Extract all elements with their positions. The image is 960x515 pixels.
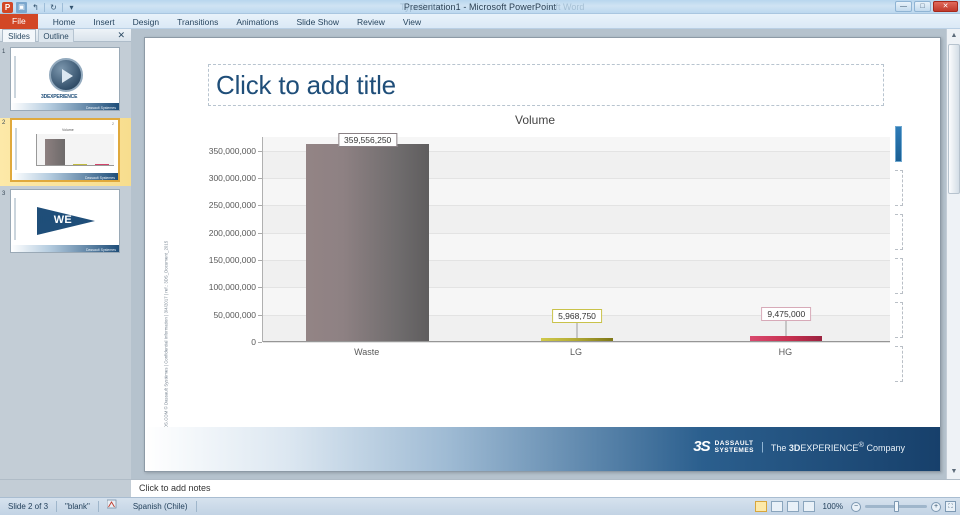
window-title-ghost-right: soft Word	[546, 0, 584, 14]
if-text: IF	[40, 214, 50, 226]
zoom-slider[interactable]	[865, 505, 927, 508]
zoom-slider-handle[interactable]	[894, 501, 899, 512]
notes-pane[interactable]: Click to add notes	[131, 479, 960, 497]
chart-bar-hg[interactable]	[750, 336, 822, 341]
slide-thumbnail-3[interactable]: 3 IF WE Dassault Systemes	[0, 189, 131, 257]
chart-y-axis: 050,000,000100,000,000150,000,000200,000…	[180, 137, 262, 342]
tab-slide-show[interactable]: Slide Show	[287, 15, 348, 29]
if-we-text: IF WE	[40, 214, 72, 226]
scroll-down-arrow-icon[interactable]: ▼	[947, 465, 960, 479]
thumbnail-slide-number: 2	[112, 122, 114, 126]
thumbnail-chart-title: Volume	[62, 128, 74, 132]
status-bar: Slide 2 of 3 "blank" Spanish (Chile) 100…	[0, 497, 960, 515]
scroll-up-arrow-icon[interactable]: ▲	[947, 29, 960, 43]
notes-pane-gutter	[0, 479, 131, 497]
we-text: WE	[54, 214, 72, 226]
thumbnail-sidebar-strip	[14, 56, 16, 98]
chart-label-leader-line	[577, 323, 578, 338]
chart-y-tick-label: 150,000,000	[209, 255, 256, 265]
status-bar-right: 100% − + ⛶	[755, 498, 956, 515]
chart-x-tick-label: Waste	[354, 347, 379, 357]
ds-company-line2: SYSTEMES	[715, 447, 754, 454]
chart-data-label-hg: 9,475,000	[761, 307, 811, 321]
thumbnail-footer-band: Dassault Systemes	[11, 103, 119, 110]
title-bar: P ▣ ↰ ↻ ▾ Presentation1 - Microsoft Powe…	[0, 0, 960, 14]
slide-workspace: Click to add title 3DS.COM © Dassault Sy…	[131, 29, 960, 479]
slide-thumbnail-image-1[interactable]: 3DEXPERIENCE Dassault Systemes	[10, 47, 120, 111]
chart-y-tick-label: 200,000,000	[209, 228, 256, 238]
ds-tagline: The 3DEXPERIENCE® Company	[771, 440, 905, 453]
thumbnail-bar-hg	[95, 164, 109, 166]
chart-title: Volume	[180, 113, 890, 127]
zoom-out-button[interactable]: −	[851, 502, 861, 512]
tab-file[interactable]: File	[0, 14, 38, 29]
slides-outline-tabs: Slides Outline ✕	[0, 29, 131, 42]
chart-y-tick-label: 0	[251, 337, 256, 347]
selection-bracket[interactable]	[895, 214, 903, 250]
tagline-pre: The	[771, 443, 789, 453]
thumbnail-bar-waste	[45, 139, 65, 165]
slide-thumbnail-number: 1	[2, 49, 5, 55]
scrollbar-thumb[interactable]	[948, 44, 960, 194]
selection-bracket[interactable]	[895, 346, 903, 382]
tab-insert[interactable]: Insert	[84, 15, 123, 29]
if-we-graphic: IF WE	[33, 206, 97, 236]
chart-y-tick-label: 100,000,000	[209, 282, 256, 292]
status-theme-name: "blank"	[57, 498, 98, 515]
slide-side-legal-strip: 3DS.COM © Dassault Systèmes | Confidenti…	[156, 53, 168, 433]
slide-thumbnail-1[interactable]: 1 3DEXPERIENCE Dassault Systemes	[0, 47, 131, 115]
minimize-button[interactable]: —	[895, 1, 912, 12]
tab-transitions[interactable]: Transitions	[168, 15, 227, 29]
window-title-ghost-left: TypeSoftic	[400, 0, 442, 14]
chart-plot-area: 359,556,2505,968,7509,475,000	[262, 137, 890, 342]
tab-home[interactable]: Home	[44, 15, 85, 29]
chart-bar-lg[interactable]	[541, 338, 613, 341]
slide-side-legal-text: 3DS.COM © Dassault Systèmes | Confidenti…	[164, 51, 169, 431]
status-slide-counter: Slide 2 of 3	[0, 498, 56, 515]
powerpoint-window: P ▣ ↰ ↻ ▾ Presentation1 - Microsoft Powe…	[0, 0, 960, 515]
chart-x-axis-labels: WasteLGHG	[262, 347, 890, 363]
tab-view[interactable]: View	[394, 15, 430, 29]
selection-bracket[interactable]	[895, 170, 903, 206]
ribbon-tab-bar: File Home Insert Design Transitions Anim…	[0, 14, 960, 29]
chart-y-tick-label: 300,000,000	[209, 173, 256, 183]
tab-animations[interactable]: Animations	[227, 15, 287, 29]
chart-bar-waste[interactable]	[306, 144, 429, 341]
chart-data-label-waste: 359,556,250	[338, 133, 397, 147]
thumbnail-sidebar-strip	[14, 198, 16, 240]
workspace-scrollbar[interactable]: ▲ ▼	[946, 29, 960, 479]
slide-thumbnail-number: 2	[2, 120, 5, 126]
tagline-company: Company	[864, 443, 905, 453]
tab-review[interactable]: Review	[348, 15, 394, 29]
view-normal-button[interactable]	[755, 501, 767, 512]
spellcheck-book-icon	[107, 499, 117, 509]
slide-thumbnail-image-3[interactable]: IF WE Dassault Systemes	[10, 189, 120, 253]
slide-canvas[interactable]: Click to add title 3DS.COM © Dassault Sy…	[144, 37, 941, 472]
chart-scrollbar-thumb[interactable]	[895, 126, 902, 162]
chart-x-tick-label: HG	[779, 347, 793, 357]
ds-logo-mark: 3S	[693, 438, 709, 455]
slide-thumbnail-list: 1 3DEXPERIENCE Dassault Systemes 2 Volum…	[0, 42, 131, 479]
ribbon-tabs: File Home Insert Design Transitions Anim…	[0, 14, 960, 29]
slide-thumbnail-2[interactable]: 2 Volume 2 Dassault Systemes	[0, 118, 131, 186]
chart-x-tick-label: LG	[570, 347, 582, 357]
tagline-3d: 3D	[789, 443, 801, 453]
title-placeholder-text: Click to add title	[216, 70, 396, 101]
thumbnail-logo-text: 3DEXPERIENCE	[41, 94, 77, 100]
thumbnail-footer-band: Dassault Systemes	[12, 173, 118, 180]
selection-bracket[interactable]	[895, 258, 903, 294]
thumbnail-sidebar-strip	[15, 128, 17, 170]
slide-thumbnail-number: 3	[2, 191, 5, 197]
chart-selection-handles[interactable]	[894, 126, 904, 398]
close-button[interactable]: ✕	[933, 1, 958, 12]
thumbnail-bar-lg	[73, 164, 87, 166]
fit-to-window-button[interactable]: ⛶	[945, 501, 956, 512]
ds-company-name: DASSAULT SYSTEMES	[715, 440, 754, 454]
ds-company-line1: DASSAULT	[715, 440, 754, 447]
zoom-in-button[interactable]: +	[931, 502, 941, 512]
thumbnail-plot-area	[36, 134, 114, 166]
chart-y-tick-label: 350,000,000	[209, 146, 256, 156]
status-language[interactable]: Spanish (Chile)	[125, 498, 196, 515]
thumbnail-footer-band: Dassault Systemes	[11, 245, 119, 252]
status-divider-3	[196, 501, 197, 512]
zoom-level-label[interactable]: 100%	[819, 498, 847, 515]
selection-bracket[interactable]	[895, 302, 903, 338]
view-slide-sorter-button[interactable]	[771, 501, 783, 512]
tagline-experience: EXPERIENCE	[800, 443, 858, 453]
close-panel-icon[interactable]: ✕	[117, 29, 125, 42]
chart-data-label-lg: 5,968,750	[552, 309, 602, 323]
ds-divider: |	[761, 441, 764, 453]
chart-y-tick-label: 50,000,000	[213, 310, 256, 320]
title-placeholder[interactable]: Click to add title	[208, 64, 884, 106]
slides-panel: Slides Outline ✕ 1 3DEXPERIENCE Dassault…	[0, 29, 131, 479]
thumbnail-footer-text: Dassault Systemes	[86, 106, 116, 110]
view-reading-button[interactable]	[787, 501, 799, 512]
chart-y-tick-label: 250,000,000	[209, 200, 256, 210]
chart-gridline	[263, 342, 890, 343]
chart-y-tick	[258, 342, 262, 343]
tab-design[interactable]: Design	[124, 15, 168, 29]
window-title: Presentation1 - Microsoft PowerPoint	[0, 0, 960, 14]
view-slideshow-button[interactable]	[803, 501, 815, 512]
window-controls: — □ ✕	[895, 1, 958, 12]
thumbnail-mini-chart: Volume	[28, 128, 116, 172]
thumbnail-footer-text: Dassault Systemes	[86, 248, 116, 252]
spellcheck-icon[interactable]	[99, 498, 125, 515]
slide-footer-band: 3S DASSAULT SYSTEMES | The 3DEXPERIENCE®…	[145, 427, 940, 471]
dassault-systemes-logo: 3S DASSAULT SYSTEMES | The 3DEXPERIENCE®…	[693, 438, 905, 455]
chart-plot-wrapper: 050,000,000100,000,000150,000,000200,000…	[180, 137, 890, 367]
tab-outline[interactable]: Outline	[38, 29, 74, 42]
chart-object[interactable]: Volume 050,000,000100,000,000150,000,000…	[180, 113, 890, 398]
tab-slides[interactable]: Slides	[2, 29, 36, 42]
thumbnail-footer-text: Dassault Systemes	[85, 176, 115, 180]
maximize-button[interactable]: □	[914, 1, 931, 12]
compass-icon	[49, 58, 83, 92]
slide-thumbnail-image-2[interactable]: Volume 2 Dassault Systemes	[10, 118, 120, 182]
chart-label-leader-line	[786, 321, 787, 336]
